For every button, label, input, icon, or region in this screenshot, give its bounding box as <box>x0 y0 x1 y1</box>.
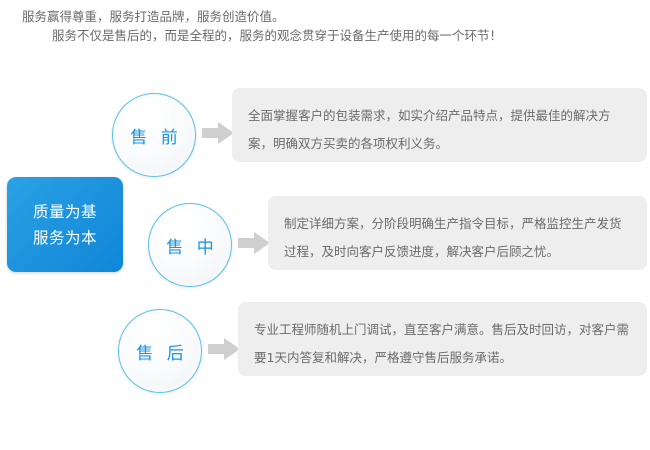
stage-panel-during-sale: 制定详细方案，分阶段明确生产指令目标，严格监控生产发货过程，及时向客户反馈进度，… <box>268 196 647 270</box>
stage-text-during-sale: 制定详细方案，分阶段明确生产指令目标，严格监控生产发货过程，及时向客户反馈进度，… <box>284 210 631 266</box>
badge-line-1: 质量为基 <box>33 199 97 225</box>
stage-text-pre-sale: 全面掌握客户的包装需求，如实介绍产品特点，提供最佳的解决方案，明确双方买卖的各项… <box>248 102 631 158</box>
quality-service-badge: 质量为基 服务为本 <box>7 177 123 272</box>
service-flow-diagram: 服务赢得尊重，服务打造品牌，服务创造价值。 服务不仅是售后的，而是全程的，服务的… <box>0 0 650 450</box>
stage-panel-after-sale: 专业工程师随机上门调试，直至客户满意。售后及时回访，对客户需要1天内答复和解决，… <box>238 302 647 376</box>
stage-circle-after-sale: 售 后 <box>118 309 202 393</box>
badge-line-2: 服务为本 <box>33 225 97 251</box>
stage-circle-pre-sale: 售 前 <box>112 93 196 177</box>
stage-circle-label-pre-sale: 售 前 <box>126 123 181 148</box>
stage-circle-label-after-sale: 售 后 <box>132 339 187 364</box>
stage-text-after-sale: 专业工程师随机上门调试，直至客户满意。售后及时回访，对客户需要1天内答复和解决，… <box>254 316 631 372</box>
intro-line-1: 服务赢得尊重，服务打造品牌，服务创造价值。 <box>22 7 285 26</box>
stage-panel-pre-sale: 全面掌握客户的包装需求，如实介绍产品特点，提供最佳的解决方案，明确双方买卖的各项… <box>232 88 647 162</box>
stage-circle-during-sale: 售 中 <box>148 203 232 287</box>
intro-line-2: 服务不仅是售后的，而是全程的，服务的观念贯穿于设备生产使用的每一个环节！ <box>52 26 502 45</box>
arrow-right-icon-pre-sale <box>202 122 234 144</box>
arrow-right-icon-after-sale <box>208 338 240 360</box>
stage-circle-label-during-sale: 售 中 <box>162 233 217 258</box>
arrow-right-icon-during-sale <box>238 232 270 254</box>
